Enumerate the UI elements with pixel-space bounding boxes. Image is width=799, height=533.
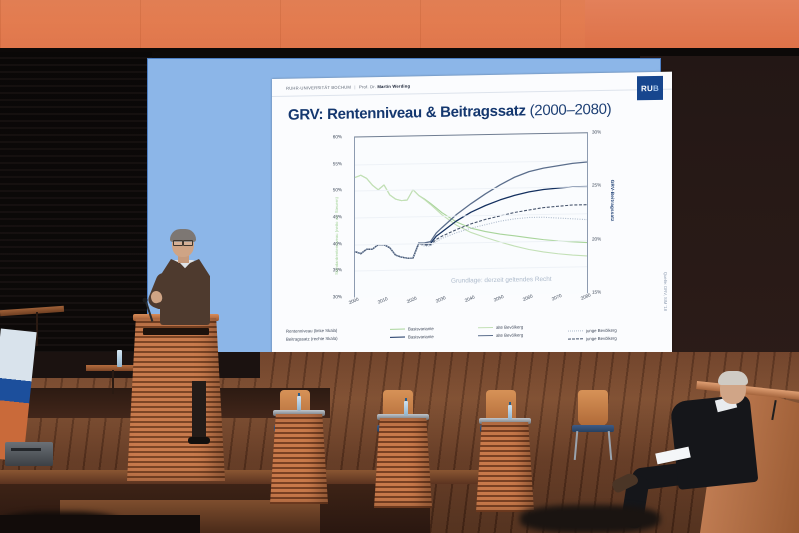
series-line	[355, 162, 587, 259]
legend-entry: junge Bevölkerg	[586, 327, 617, 333]
chart-source: Quelle: DRV, SIM '18	[663, 272, 668, 311]
y-tick-left: 50%	[318, 188, 342, 193]
x-tick: 2080	[580, 292, 591, 301]
presentation-slide: RUHR-UNIVERSITÄT BOCHUM | Prof. Dr. Mart…	[272, 72, 672, 384]
rub-logo: RUB	[637, 76, 663, 100]
slide-title: GRV: Rentenniveau & Beitragssatz (2000–2…	[288, 101, 611, 124]
presenter-name: Martin Werding	[377, 83, 410, 89]
side-podium	[270, 414, 328, 504]
x-tick: 2040	[464, 294, 475, 303]
projector-unit	[5, 442, 53, 466]
legend-entry: junge Bevölkerg	[586, 335, 617, 341]
x-tick: 2020	[406, 296, 417, 305]
x-tick: 2030	[435, 295, 446, 304]
legend-swatch-dotted	[568, 330, 583, 331]
slide-title-suffix: (2000–2080)	[530, 101, 612, 119]
series-line	[355, 171, 587, 247]
slatted-wall-left	[0, 52, 152, 352]
chart-legend: Rentenniveau (linke Skala) Beitragssatz …	[286, 320, 658, 327]
water-bottle	[117, 350, 122, 367]
slide-header: RUHR-UNIVERSITÄT BOCHUM | Prof. Dr. Mart…	[286, 83, 410, 90]
lecture-hall-scene: RUHR-UNIVERSITÄT BOCHUM | Prof. Dr. Mart…	[0, 0, 799, 533]
y-tick-right: 25%	[592, 183, 601, 188]
university-name: RUHR-UNIVERSITÄT	[286, 85, 330, 91]
stage-chair	[570, 390, 616, 460]
water-bottle	[297, 396, 301, 411]
glasses-lens-right	[183, 240, 193, 246]
header-separator: |	[354, 84, 355, 89]
legend-column-basisvariante: Basisvariante Basisvariante	[390, 324, 434, 341]
y-tick-right: 15%	[592, 289, 601, 294]
lectern-dark-panel	[143, 328, 209, 335]
legend-row: junge Bevölkerg	[568, 334, 617, 343]
legend-entry: Basisvariante	[408, 326, 434, 331]
y-tick-left: 55%	[318, 161, 342, 166]
y-tick-right: 20%	[592, 236, 601, 241]
legend-column-labels: Rentenniveau (linke Skala) Beitragssatz …	[286, 326, 338, 343]
legend-swatch-navy-solid	[390, 336, 405, 337]
y-tick-left: 45%	[318, 214, 342, 219]
y-axis-right-label: GRV-Beitragssatz	[610, 180, 615, 222]
foreground-blur-right	[520, 505, 660, 533]
projector-lens	[11, 448, 41, 451]
speaker-figure	[150, 231, 220, 327]
y-tick-left: 60%	[318, 134, 342, 139]
presenter-prefix: Prof. Dr.	[359, 84, 376, 89]
x-tick: 2050	[493, 294, 504, 303]
legend-row: alte Bevölkerg	[478, 330, 523, 339]
legend-swatch-slate-solid	[478, 334, 493, 335]
legend-row: Beitragssatz (rechte Skala)	[286, 334, 338, 343]
legend-swatch-lightgreen-solid	[478, 326, 493, 327]
x-tick: 2000	[348, 297, 359, 306]
seated-hair	[718, 371, 748, 385]
legend-entry: alte Bevölkerg	[496, 324, 523, 329]
speaker-glasses	[173, 240, 193, 244]
lectern	[127, 318, 225, 481]
water-bottle	[404, 401, 408, 416]
chair-back	[578, 390, 608, 426]
x-tick: 2010	[377, 296, 388, 305]
logo-text-primary: RU	[641, 84, 653, 93]
y-tick-left: 35%	[318, 268, 342, 273]
side-podium	[374, 418, 432, 508]
x-tick: 2060	[522, 293, 533, 302]
chart: Standardrentenniveau (netto vor Steuern)…	[318, 128, 614, 318]
side-table-leg	[36, 312, 38, 346]
seated-torso	[670, 394, 759, 490]
legend-entry: Basisvariante	[408, 334, 434, 339]
legend-swatch-dashed	[568, 338, 583, 339]
header-divider	[272, 89, 672, 97]
y-tick-left: 30%	[318, 294, 342, 299]
legend-swatch-green-solid	[390, 328, 405, 329]
side-podium	[476, 422, 534, 512]
plot-area: Grundlage: derzeit geltendes Recht	[354, 132, 588, 297]
glasses-lens-left	[173, 240, 183, 246]
speaker-leg	[192, 381, 206, 441]
y-tick-left: 40%	[318, 241, 342, 246]
logo-text-secondary: B	[653, 83, 659, 92]
legend-label-rentenniveau: Rentenniveau (linke Skala)	[286, 327, 337, 333]
water-bottle	[508, 405, 512, 420]
side-table-2-leg	[112, 370, 114, 394]
legend-row: Basisvariante	[390, 332, 434, 341]
legend-label-beitragssatz: Beitragssatz (rechte Skala)	[286, 335, 338, 341]
slide-title-main: GRV: Rentenniveau & Beitragssatz	[288, 102, 526, 123]
campus-name: BOCHUM	[331, 85, 351, 90]
foreground-dark-bar	[0, 515, 200, 533]
legend-column-junge-bevoelkerung: junge Bevölkerg junge Bevölkerg	[568, 326, 617, 343]
legend-column-alte-bevoelkerung: alte Bevölkerg alte Bevölkerg	[478, 322, 523, 339]
speaker-shoe	[188, 437, 210, 444]
chair-leg	[574, 431, 578, 460]
legend-entry: alte Bevölkerg	[496, 332, 523, 337]
x-tick: 2070	[551, 293, 562, 302]
y-tick-right: 30%	[592, 129, 601, 134]
